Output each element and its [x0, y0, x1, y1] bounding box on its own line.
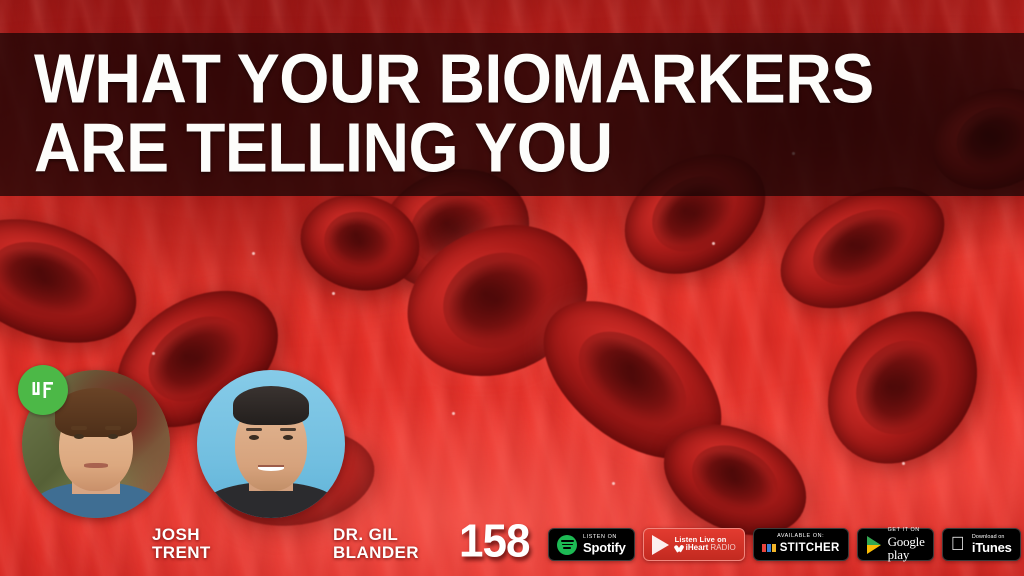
avatar-hair [233, 386, 310, 424]
guest-name-josh-trent: JOSH TRENT [152, 526, 211, 563]
plasma-speck [452, 412, 455, 415]
platform-badges: Listen on Spotify Listen Live on iHeartR… [548, 528, 1024, 561]
avatar-brow [105, 426, 121, 430]
badge-big-text: Spotify [583, 541, 626, 554]
avatar-eye [108, 434, 118, 439]
podcast-episode-cover: WHAT YOUR BIOMARKERS ARE TELLING YOU [0, 0, 1024, 576]
badge-big-text: STITCHER [780, 543, 840, 555]
badge-google-play[interactable]: GET IT ON Google play [857, 528, 934, 561]
title-line-2: ARE TELLING YOU [34, 115, 1024, 182]
badge-text: AVAILABLE ON: STITCHER [762, 534, 840, 554]
plasma-speck [612, 482, 615, 485]
wf-monogram-icon [26, 373, 60, 407]
badge-stitcher[interactable]: AVAILABLE ON: STITCHER [753, 528, 849, 561]
badge-text: Download on iTunes [972, 535, 1012, 555]
wellness-force-logo [18, 365, 68, 415]
avatar-brow [246, 428, 262, 432]
badge-spotify[interactable]: Listen on Spotify [548, 528, 635, 561]
episode-number: 158 [459, 516, 529, 569]
badge-big-right: RADIO [710, 544, 735, 552]
badge-text: Listen Live on iHeartRADIO [675, 536, 736, 552]
title-line-1: WHAT YOUR BIOMARKERS [34, 47, 1024, 114]
google-play-icon [866, 536, 882, 554]
badge-text: Listen on Spotify [583, 535, 626, 555]
badge-small-text: AVAILABLE ON: [762, 534, 840, 539]
badge-itunes[interactable]:  Download on iTunes [942, 528, 1021, 561]
title-banner: WHAT YOUR BIOMARKERS ARE TELLING YOU [0, 33, 1024, 196]
badge-big-text: Google play [888, 535, 925, 561]
plasma-speck [152, 352, 155, 355]
play-triangle-icon [652, 535, 669, 555]
avatar-brow [71, 426, 87, 430]
avatar-eye [74, 434, 84, 439]
badge-text: GET IT ON Google play [888, 528, 925, 561]
avatar-mouth [84, 463, 108, 467]
heart-icon [675, 544, 684, 552]
avatar-brow [280, 428, 296, 432]
guest-name-gil-blander: DR. GIL BLANDER [333, 526, 419, 563]
plasma-speck [252, 252, 255, 255]
badge-big-text: iHeartRADIO [675, 544, 736, 552]
plasma-speck [712, 242, 715, 245]
gil-blander-avatar [197, 370, 345, 518]
guest-name-line2: BLANDER [333, 544, 419, 562]
badge-iheartradio[interactable]: Listen Live on iHeartRADIO [643, 528, 745, 561]
apple-icon:  [951, 535, 965, 554]
badge-small-text: GET IT ON [888, 528, 925, 533]
guest-name-line2: TRENT [152, 544, 211, 562]
stitcher-bars-icon [762, 544, 776, 552]
badge-small-text: Download on [972, 535, 1012, 540]
avatar-mouth [258, 465, 285, 471]
plasma-speck [902, 462, 905, 465]
badge-big-left: iHeart [686, 544, 709, 552]
badge-big-text: iTunes [972, 541, 1012, 554]
guest-name-line1: JOSH [152, 526, 211, 544]
badge-small-text: Listen on [583, 535, 626, 540]
guest-name-line1: DR. GIL [333, 526, 419, 544]
spotify-icon [557, 535, 577, 555]
plasma-speck [332, 292, 335, 295]
